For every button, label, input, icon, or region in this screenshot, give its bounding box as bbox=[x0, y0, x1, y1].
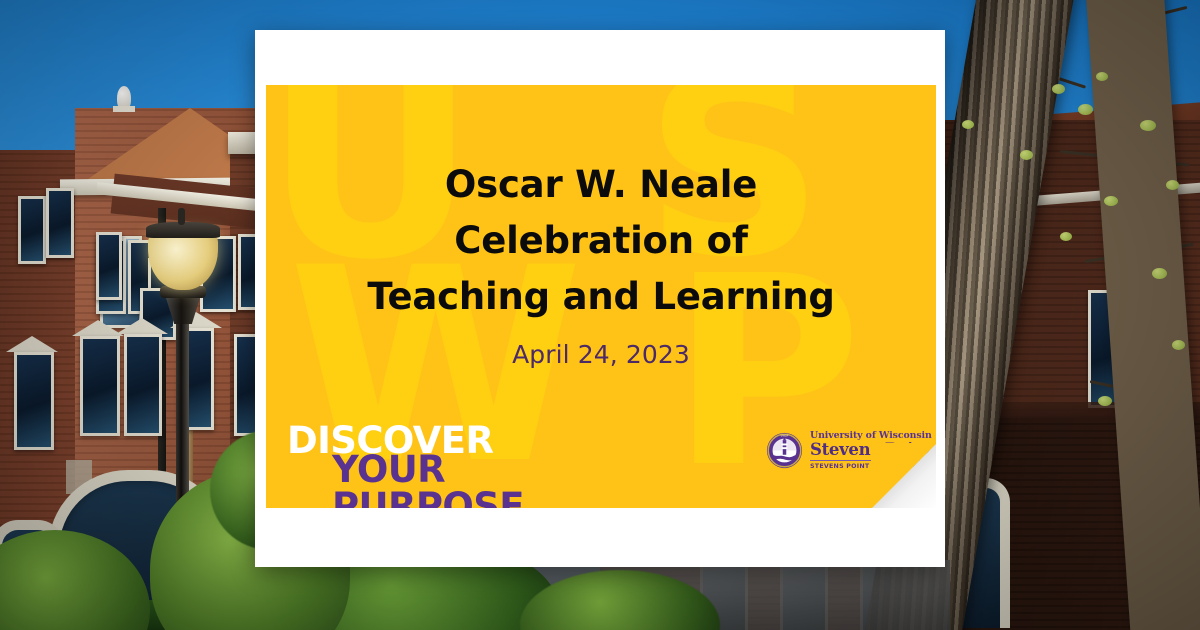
screenshot-canvas: U S W P Oscar W. Neale Celebration of Te… bbox=[0, 0, 1200, 630]
svg-text:UWSP: UWSP bbox=[781, 435, 789, 438]
brand-tagline: DISCOVER YOUR PURPOSE bbox=[287, 422, 647, 508]
uwsp-seal-icon: UWSP bbox=[766, 432, 803, 469]
title-line-2: Celebration of bbox=[266, 213, 936, 269]
title-line-3: Teaching and Learning bbox=[266, 269, 936, 325]
title-line-1: Oscar W. Neale bbox=[266, 157, 936, 213]
presentation-slide: U S W P Oscar W. Neale Celebration of Te… bbox=[266, 85, 936, 508]
slide-date: April 24, 2023 bbox=[266, 340, 936, 369]
slide-title: Oscar W. Neale Celebration of Teaching a… bbox=[266, 157, 936, 326]
